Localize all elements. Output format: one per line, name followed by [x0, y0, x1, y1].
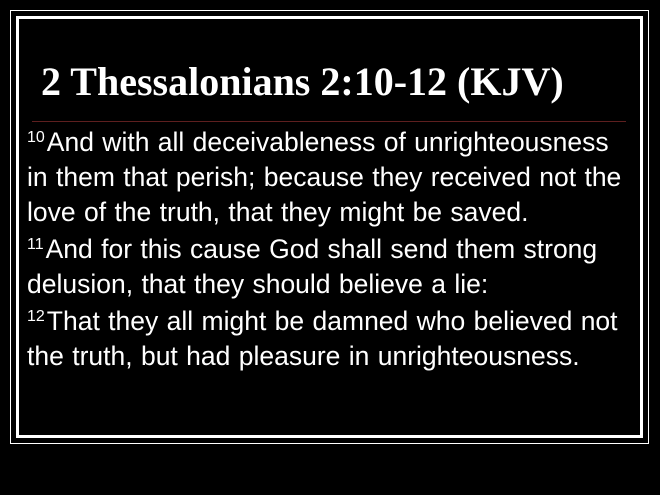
verse-number: 11: [27, 236, 46, 253]
verse-number: 10: [27, 129, 47, 146]
title-underline-divider: [32, 121, 626, 122]
verse-text: That they all might be damned who believ…: [27, 306, 618, 371]
verse-text: And for this cause God shall send them s…: [27, 234, 597, 299]
verse-paragraph: 12That they all might be damned who beli…: [27, 304, 633, 374]
page-title: 2 Thessalonians 2:10-12 (KJV): [41, 59, 621, 105]
slide-content: 2 Thessalonians 2:10-12 (KJV) 10And with…: [20, 20, 639, 434]
verse-number: 12: [27, 308, 47, 325]
scripture-body: 10And with all deceivableness of unright…: [27, 125, 633, 374]
presentation-slide: 2 Thessalonians 2:10-12 (KJV) 10And with…: [0, 0, 660, 495]
verse-paragraph: 10And with all deceivableness of unright…: [27, 125, 633, 230]
verse-text: And with all deceivableness of unrighteo…: [27, 127, 621, 227]
verse-paragraph: 11And for this cause God shall send them…: [27, 232, 633, 302]
